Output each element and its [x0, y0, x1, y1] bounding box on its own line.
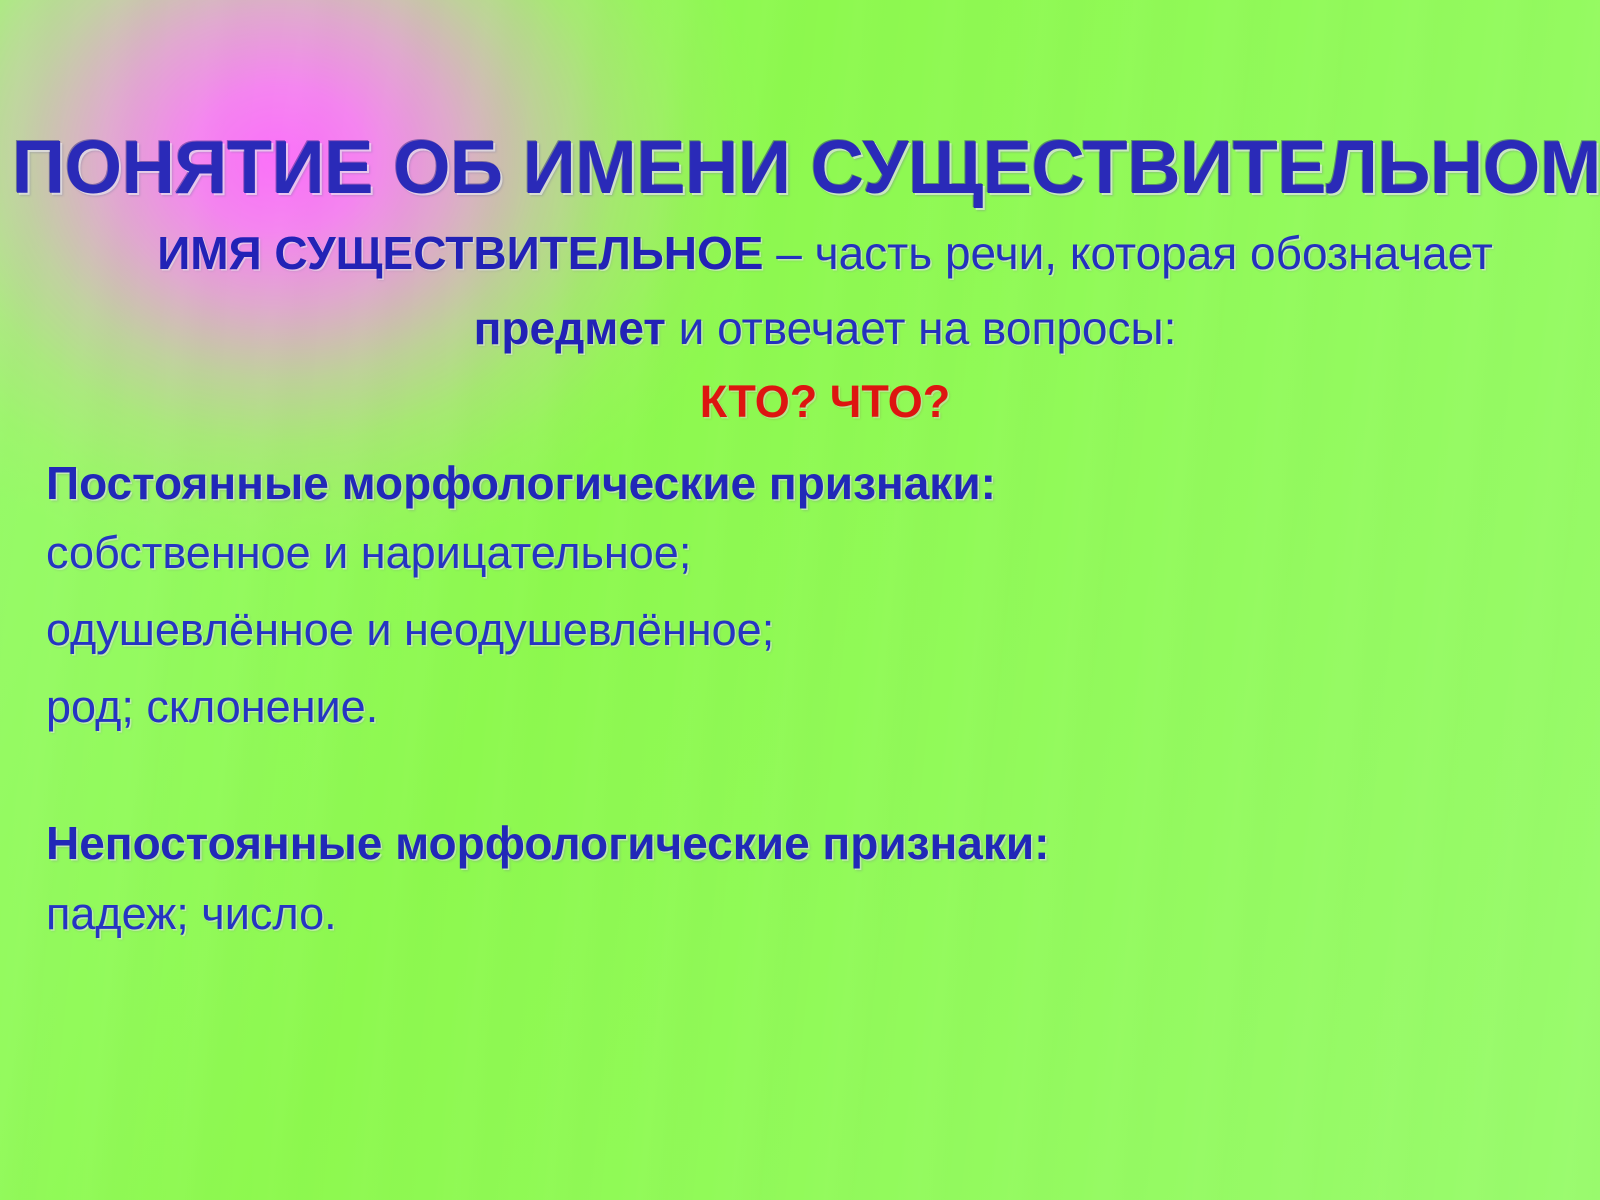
features-block: Постоянные морфологические признаки: соб… — [46, 452, 1546, 952]
definition-line1-rest: – часть речи, которая — [763, 227, 1237, 279]
list-item: собственное и нарицательное; — [46, 514, 1546, 591]
section-permanent-features: Постоянные морфологические признаки: соб… — [46, 452, 1546, 745]
definition-emphasis: предмет — [474, 302, 666, 354]
slide-canvas: ПОНЯТИЕ ОБ ИМЕНИ СУЩЕСТВИТЕЛЬНОМ ИМЯ СУЩ… — [0, 0, 1600, 1200]
permanent-features-list: собственное и нарицательное; одушевлённо… — [46, 514, 1546, 745]
slide-content: ПОНЯТИЕ ОБ ИМЕНИ СУЩЕСТВИТЕЛЬНОМ ИМЯ СУЩ… — [0, 0, 1600, 1200]
definition-block: ИМЯ СУЩЕСТВИТЕЛЬНОЕ – часть речи, котора… — [120, 216, 1530, 438]
definition-line2-before: обозначает — [1250, 227, 1493, 279]
variable-features-heading: Непостоянные морфологические признаки: — [46, 811, 1546, 875]
list-item: род; склонение. — [46, 668, 1546, 745]
permanent-features-heading: Постоянные морфологические признаки: — [46, 452, 1546, 514]
definition-questions: КТО? ЧТО? — [120, 366, 1530, 438]
page-title: ПОНЯТИЕ ОБ ИМЕНИ СУЩЕСТВИТЕЛЬНОМ — [12, 124, 1588, 210]
variable-features-list: падеж; число. — [46, 875, 1546, 952]
list-item: одушевлённое и неодушевлённое; — [46, 591, 1546, 668]
definition-term: ИМЯ СУЩЕСТВИТЕЛЬНОЕ — [157, 227, 763, 279]
definition-line2-after: и отвечает на вопросы: — [666, 302, 1177, 354]
section-variable-features: Непостоянные морфологические признаки: п… — [46, 811, 1546, 952]
list-item: падеж; число. — [46, 875, 1546, 952]
